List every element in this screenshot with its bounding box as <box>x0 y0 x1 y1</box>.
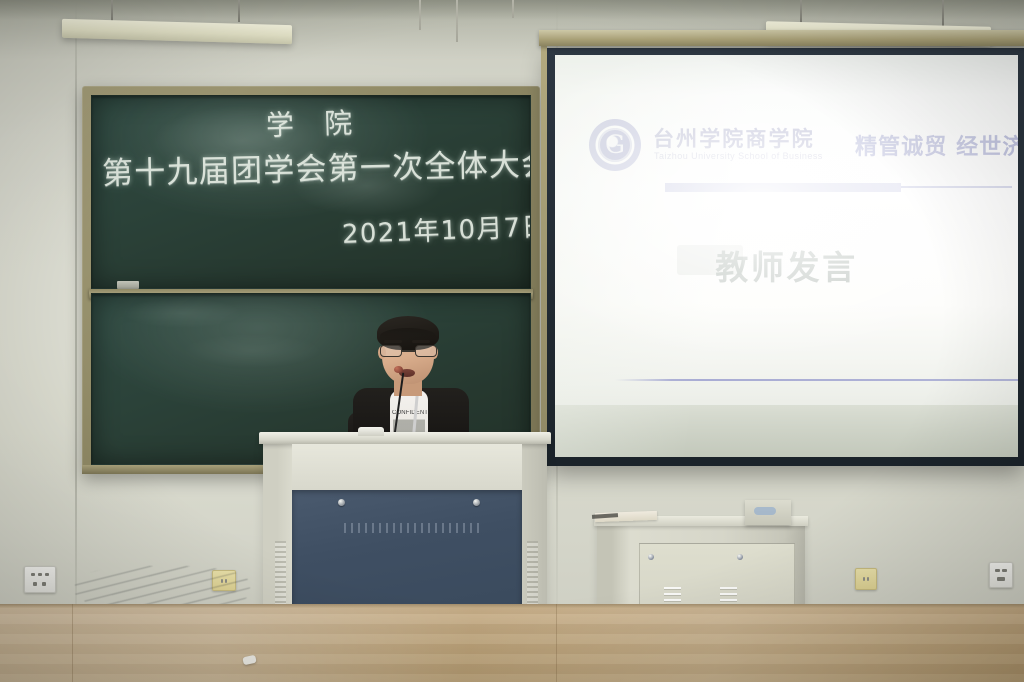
blackboard-line-date: 2021年10月7日 <box>341 206 531 251</box>
cabinet-lock-right[interactable] <box>737 554 743 560</box>
floor-seam-b <box>556 604 557 682</box>
lectern-screw-left <box>338 499 345 506</box>
slide-title: 教师发言 <box>555 241 1018 289</box>
slide-header-rule-thin <box>901 186 1012 188</box>
slide-slogan: 精管诚贸 经世济民 <box>855 129 1018 161</box>
small-device-on-cabinet[interactable] <box>745 500 791 525</box>
slide-university-name-cn: 台州学院商学院 <box>653 123 815 153</box>
lectern-screw-right <box>473 499 480 506</box>
lectern-vent-row-top <box>344 523 482 533</box>
device-label <box>754 507 776 515</box>
wall-outlet-left[interactable] <box>24 566 56 593</box>
chalk-clip <box>117 281 139 289</box>
blackboard-line-top: 学 院 <box>265 101 363 144</box>
ceiling-conduit-b <box>456 0 458 42</box>
university-seal-icon: G <box>589 119 641 171</box>
floor-front-edge <box>0 604 1024 608</box>
presenter-brow-left <box>384 340 402 343</box>
screen-lower-shadow-band <box>555 405 1018 457</box>
ceiling-conduit-c <box>512 0 514 18</box>
microphone-icon <box>394 366 403 373</box>
screen-roller-housing <box>539 30 1024 46</box>
lectern-top-surface <box>259 432 551 444</box>
microphone-base <box>358 427 384 436</box>
presenter-brow-right <box>412 340 430 343</box>
blackboard-upper-panel: 学 院 第十九届团学会第一次全体大会 2021年10月7日 <box>91 95 531 289</box>
cabinet-lock-left[interactable] <box>648 554 654 560</box>
slide-footer-rule <box>615 379 1018 381</box>
wall-switch-right[interactable] <box>989 562 1013 588</box>
lectern-upper-band <box>292 444 522 490</box>
glasses-icon <box>380 345 437 357</box>
ceiling-conduit-a <box>419 0 421 30</box>
light-rod-left-b <box>238 0 240 22</box>
seal-letter: G <box>589 129 641 161</box>
blackboard-line-main: 第十九届团学会第一次全体大会 <box>102 139 531 193</box>
slide-header-rule <box>665 183 901 192</box>
floor-sheen <box>0 604 1024 682</box>
projected-slide: G 台州学院商学院 Taizhou University School of B… <box>555 55 1018 457</box>
classroom-scene: 学 院 第十九届团学会第一次全体大会 2021年10月7日 G 台州学院商学院 … <box>0 0 1024 682</box>
slide-university-name-en: Taizhou University School of Business <box>654 151 823 161</box>
projection-screen: G 台州学院商学院 Taizhou University School of B… <box>547 48 1024 466</box>
floor-seam-a <box>72 604 73 682</box>
wall-plate-right[interactable] <box>855 568 877 590</box>
wall-seam-left <box>75 0 77 612</box>
